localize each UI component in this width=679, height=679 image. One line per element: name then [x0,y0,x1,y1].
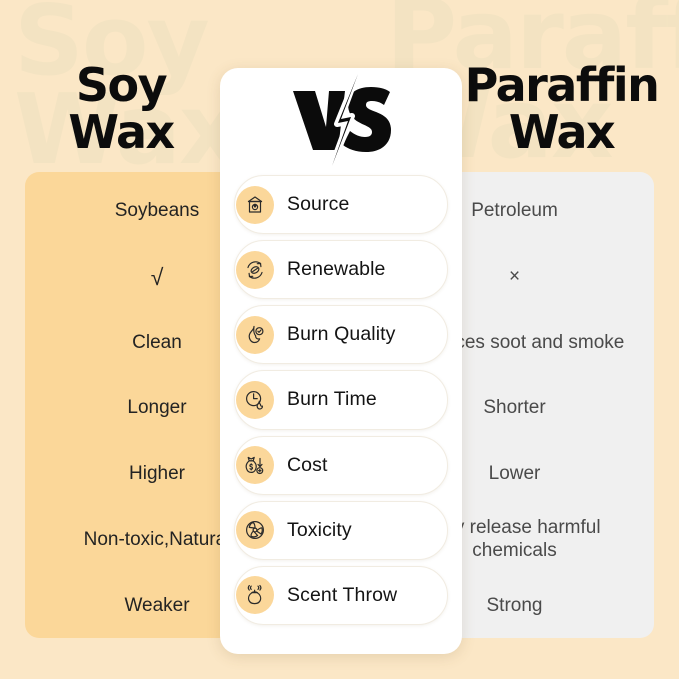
heading-paraffin-line2: Wax [444,109,679,156]
criteria-label: Source [287,193,349,216]
criteria-row-cost[interactable]: Cost [234,436,448,495]
radiation-icon [236,511,274,549]
vs-lightning-icon [285,72,397,168]
criteria-label: Burn Time [287,388,377,411]
criteria-label: Renewable [287,258,385,281]
recycle-leaf-icon [236,251,274,289]
criteria-row-toxicity[interactable]: Toxicity [234,501,448,560]
criteria-label: Cost [287,454,328,477]
heading-soy-wax: Soy Wax [6,62,236,156]
clock-flame-icon [236,381,274,419]
money-bag-arrow-icon [236,446,274,484]
criteria-label: Toxicity [287,519,352,542]
heading-soy-line1: Soy [6,62,236,109]
heading-paraffin-wax: Paraffin Wax [444,62,679,156]
criteria-row-source[interactable]: Source [234,175,448,234]
criteria-row-burn-time[interactable]: Burn Time [234,370,448,429]
comparison-criteria-card: Source Renewable [220,68,462,654]
heading-soy-line2: Wax [6,109,236,156]
criteria-rows: Source Renewable [234,172,448,628]
scented-sachet-icon [236,576,274,614]
criteria-row-burn-quality[interactable]: Burn Quality [234,305,448,364]
criteria-row-scent-throw[interactable]: Scent Throw [234,566,448,625]
sack-of-soybeans-icon [236,186,274,224]
flame-check-icon [236,316,274,354]
vs-logo-wrap [220,68,462,172]
heading-paraffin-line1: Paraffin [444,62,679,109]
criteria-label: Burn Quality [287,323,396,346]
criteria-label: Scent Throw [287,584,397,607]
criteria-row-renewable[interactable]: Renewable [234,240,448,299]
